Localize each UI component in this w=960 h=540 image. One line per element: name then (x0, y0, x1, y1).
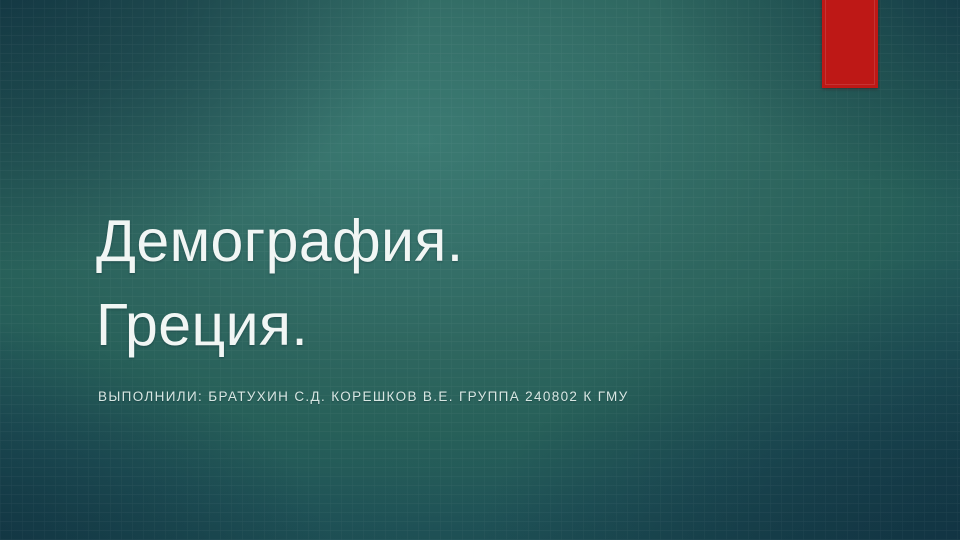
page-title: Демография. Греция. (96, 200, 836, 368)
red-accent-rectangle (822, 0, 878, 88)
slide-subtitle: ВЫПОЛНИЛИ: БРАТУХИН С.Д. КОРЕШКОВ В.Е. Г… (98, 387, 836, 407)
title-slide: Демография. Греция. ВЫПОЛНИЛИ: БРАТУХИН … (0, 0, 960, 540)
title-text-group: Демография. Греция. ВЫПОЛНИЛИ: БРАТУХИН … (96, 200, 836, 407)
